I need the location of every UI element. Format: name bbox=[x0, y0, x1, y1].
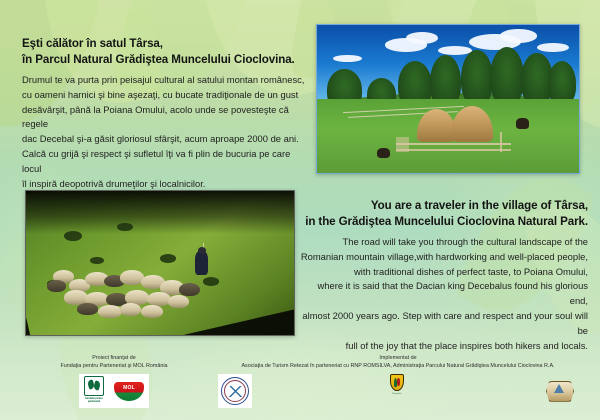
funder-title: Proiect finanţat de bbox=[14, 354, 214, 362]
english-body-line-1: The road will take you through the cultu… bbox=[300, 235, 588, 250]
implementer-group: Implementat de Asociaţia de Turism Retez… bbox=[196, 354, 600, 408]
romanian-body-line-6: îl inspiră deopotrivă drumeţilor şi loca… bbox=[22, 177, 312, 192]
english-body-line-4: where it is said that the Dacian king De… bbox=[300, 279, 588, 309]
mol-logo: MOL bbox=[109, 374, 149, 408]
poster-canvas: Eşti călător în satul Târsa, în Parcul N… bbox=[0, 0, 600, 420]
shepherd-with-sheep-photo bbox=[25, 190, 295, 336]
romanian-body: Drumul te va purta prin peisajul cultura… bbox=[22, 73, 312, 192]
implementer-subtitle: Asociaţia de Turism Retezat în parteneri… bbox=[196, 362, 600, 370]
park-diamond-icon bbox=[546, 381, 574, 402]
romanian-body-line-3: desăvârşit, până la Poiana Omului, acolo… bbox=[22, 103, 312, 133]
funder-subtitle: Fundaţia pentru Parteneriat şi MOL Român… bbox=[14, 362, 214, 370]
leaf-pair-icon bbox=[84, 376, 104, 396]
seal-ring-icon bbox=[221, 377, 249, 405]
romanian-body-line-1: Drumul te va purta prin peisajul cultura… bbox=[22, 73, 312, 88]
asociatia-turism-retezat-logo bbox=[218, 374, 252, 408]
romanian-body-line-2: cu oameni harnici şi bine aşezaţi, cu bu… bbox=[22, 88, 312, 103]
english-body-line-2: Romanian mountain village,with hardworki… bbox=[300, 250, 588, 265]
implementer-title: Implementat de bbox=[196, 354, 600, 362]
grazing-animal bbox=[516, 118, 529, 128]
romanian-body-line-5: Calcă cu grijă şi respect şi sufletul îţ… bbox=[22, 147, 312, 177]
romanian-heading-line-1: Eşti călător în satul Târsa, bbox=[22, 36, 312, 52]
english-body: The road will take you through the cultu… bbox=[300, 235, 588, 354]
fundatia-logo-caption: fundatia pentruparteneriat bbox=[85, 397, 102, 403]
photo-top-shadow bbox=[26, 191, 294, 234]
funder-group: Proiect finanţat de Fundaţia pentru Part… bbox=[14, 354, 214, 408]
romanian-heading-line-2: în Parcul Natural Grădiştea Muncelului C… bbox=[22, 52, 312, 68]
romanian-text-block: Eşti călător în satul Târsa, în Parcul N… bbox=[22, 36, 312, 192]
romsilva-shield-icon bbox=[390, 374, 404, 391]
english-heading-line-2: in the Grădiştea Muncelului Cioclovina N… bbox=[300, 214, 588, 230]
romanian-heading: Eşti călător în satul Târsa, în Parcul N… bbox=[22, 36, 312, 69]
english-text-block: You are a traveler in the village of Târ… bbox=[300, 198, 588, 354]
english-body-line-5: almost 2000 years ago. Step with care an… bbox=[300, 309, 588, 339]
romsilva-logo-caption: Romsilva bbox=[393, 393, 402, 395]
funder-logo-row: fundatia pentruparteneriat MOL bbox=[14, 374, 214, 408]
grazing-animal bbox=[377, 148, 390, 158]
implementer-logo-row: Romsilva bbox=[196, 374, 600, 408]
romanian-body-line-4: dac Decebal şi-a găsit gloriosul sfârşit… bbox=[22, 132, 312, 147]
haystacks-meadow-photo bbox=[316, 24, 580, 174]
english-heading: You are a traveler in the village of Târ… bbox=[300, 198, 588, 231]
english-heading-line-1: You are a traveler in the village of Târ… bbox=[300, 198, 588, 214]
english-body-line-3: with traditional dishes of perfect taste… bbox=[300, 265, 588, 280]
mol-shield-icon: MOL bbox=[114, 382, 144, 401]
shepherd bbox=[195, 251, 208, 274]
footer: Proiect finanţat de Fundaţia pentru Part… bbox=[0, 350, 600, 420]
fundatia-pentru-parteneriat-logo: fundatia pentruparteneriat bbox=[79, 374, 109, 408]
romsilva-logo: Romsilva bbox=[382, 374, 412, 408]
parcul-natural-gradistea-logo bbox=[542, 374, 578, 408]
bird-icon bbox=[229, 386, 242, 397]
